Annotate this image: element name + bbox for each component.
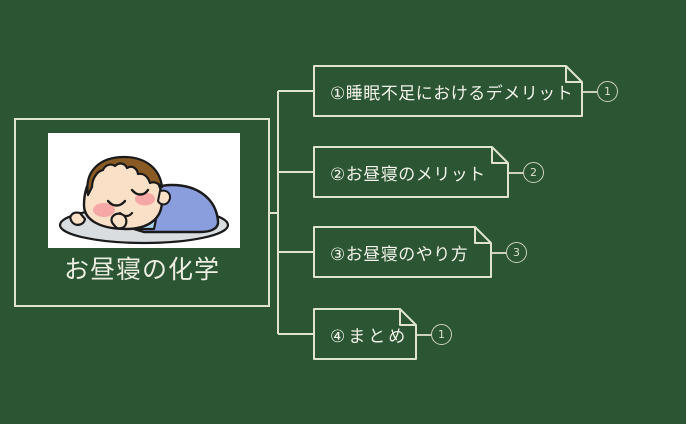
root-node[interactable]: お昼寝の化学: [14, 118, 270, 307]
branch-badge-4[interactable]: 1: [431, 324, 452, 345]
branch-badge-3[interactable]: 3: [506, 242, 527, 263]
sleeping-child-icon: [48, 133, 240, 248]
root-thumbnail: [48, 133, 240, 248]
branch-node-label-2: ②お昼寝のメリット: [313, 146, 486, 198]
branch-badge-stem-4: [417, 334, 431, 336]
branch-node-label-4: ④まとめ: [313, 308, 408, 360]
mindmap-canvas: お昼寝の化学 ①睡眠不足におけるデメリット1②お昼寝のメリット2③お昼寝のやり方…: [0, 0, 686, 424]
branch-node-4[interactable]: ④まとめ: [313, 308, 417, 360]
branch-node-3[interactable]: ③お昼寝のやり方: [313, 226, 492, 278]
branch-node-2[interactable]: ②お昼寝のメリット: [313, 146, 509, 198]
branch-badge-2[interactable]: 2: [523, 162, 544, 183]
branch-badge-stem-2: [509, 172, 523, 174]
branch-node-1[interactable]: ①睡眠不足におけるデメリット: [313, 65, 583, 117]
branch-node-label-1: ①睡眠不足におけるデメリット: [313, 65, 573, 117]
branch-badge-1[interactable]: 1: [597, 81, 618, 102]
root-title: お昼寝の化学: [16, 256, 268, 284]
branch-badge-stem-1: [583, 91, 597, 93]
branch-node-label-3: ③お昼寝のやり方: [313, 226, 468, 278]
branch-badge-stem-3: [492, 252, 506, 254]
